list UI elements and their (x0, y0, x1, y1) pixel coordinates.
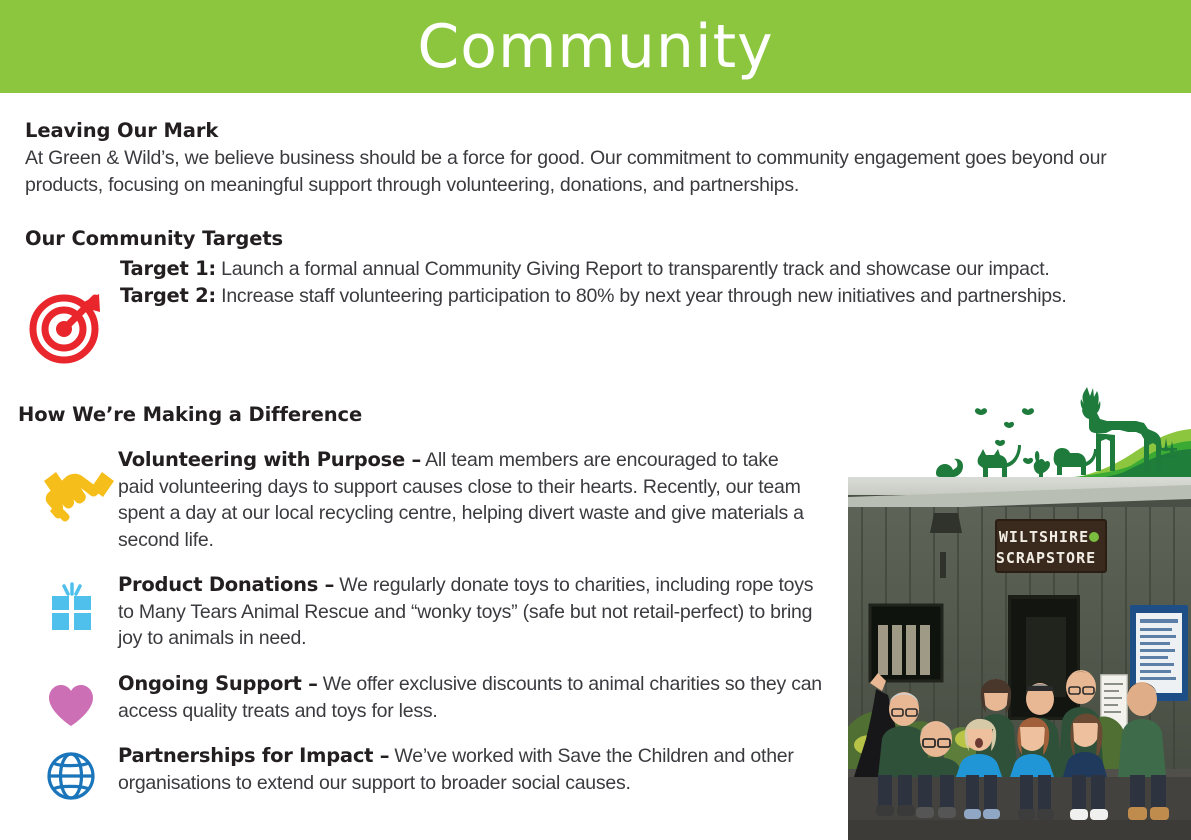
globe-icon (40, 747, 118, 807)
team-photo-wiltshire-scrapstore: WILTSHIRE SCRAPSTORE (848, 477, 1191, 840)
target-1-label: Target 1: (120, 258, 216, 280)
list-item-text: Volunteering with Purpose – All team mem… (118, 447, 818, 553)
paragraph-leaving-our-mark: At Green & Wild’s, we believe business s… (25, 145, 1160, 198)
page-title: Community (0, 4, 1191, 90)
handshake-icon (40, 463, 118, 523)
list-item-text: Product Donations – We regularly donate … (118, 572, 833, 652)
target-icon (27, 285, 107, 365)
list-item-label: Partnerships for Impact – (118, 744, 389, 767)
svg-text:WILTSHIRE: WILTSHIRE (999, 528, 1089, 546)
heading-our-community-targets: Our Community Targets (25, 227, 283, 250)
gift-icon (40, 582, 118, 642)
community-page: Community Leaving Our Mark At Green & Wi… (0, 0, 1191, 840)
paragraph-community-targets: Target 1: Launch a formal annual Communi… (120, 256, 1160, 309)
svg-text:SCRAPSTORE: SCRAPSTORE (996, 549, 1096, 567)
list-item-label: Product Donations – (118, 573, 334, 596)
heading-leaving-our-mark: Leaving Our Mark (25, 119, 218, 142)
target-1-text: Launch a formal annual Community Giving … (216, 258, 1050, 280)
target-2-label: Target 2: (120, 285, 216, 307)
target-2-text: Increase staff volunteering participatio… (216, 285, 1067, 307)
list-item-label: Volunteering with Purpose – (118, 448, 421, 471)
list-item-label: Ongoing Support – (118, 672, 318, 695)
heart-icon (40, 677, 118, 737)
list-item-text: Ongoing Support – We offer exclusive dis… (118, 671, 843, 724)
list-item-text: Partnerships for Impact – We’ve worked w… (118, 743, 823, 796)
shop-sign: WILTSHIRE SCRAPSTORE (996, 520, 1106, 572)
page-banner: Community (0, 0, 1191, 93)
heading-how-we-are-making-a-difference: How We’re Making a Difference (18, 403, 362, 426)
